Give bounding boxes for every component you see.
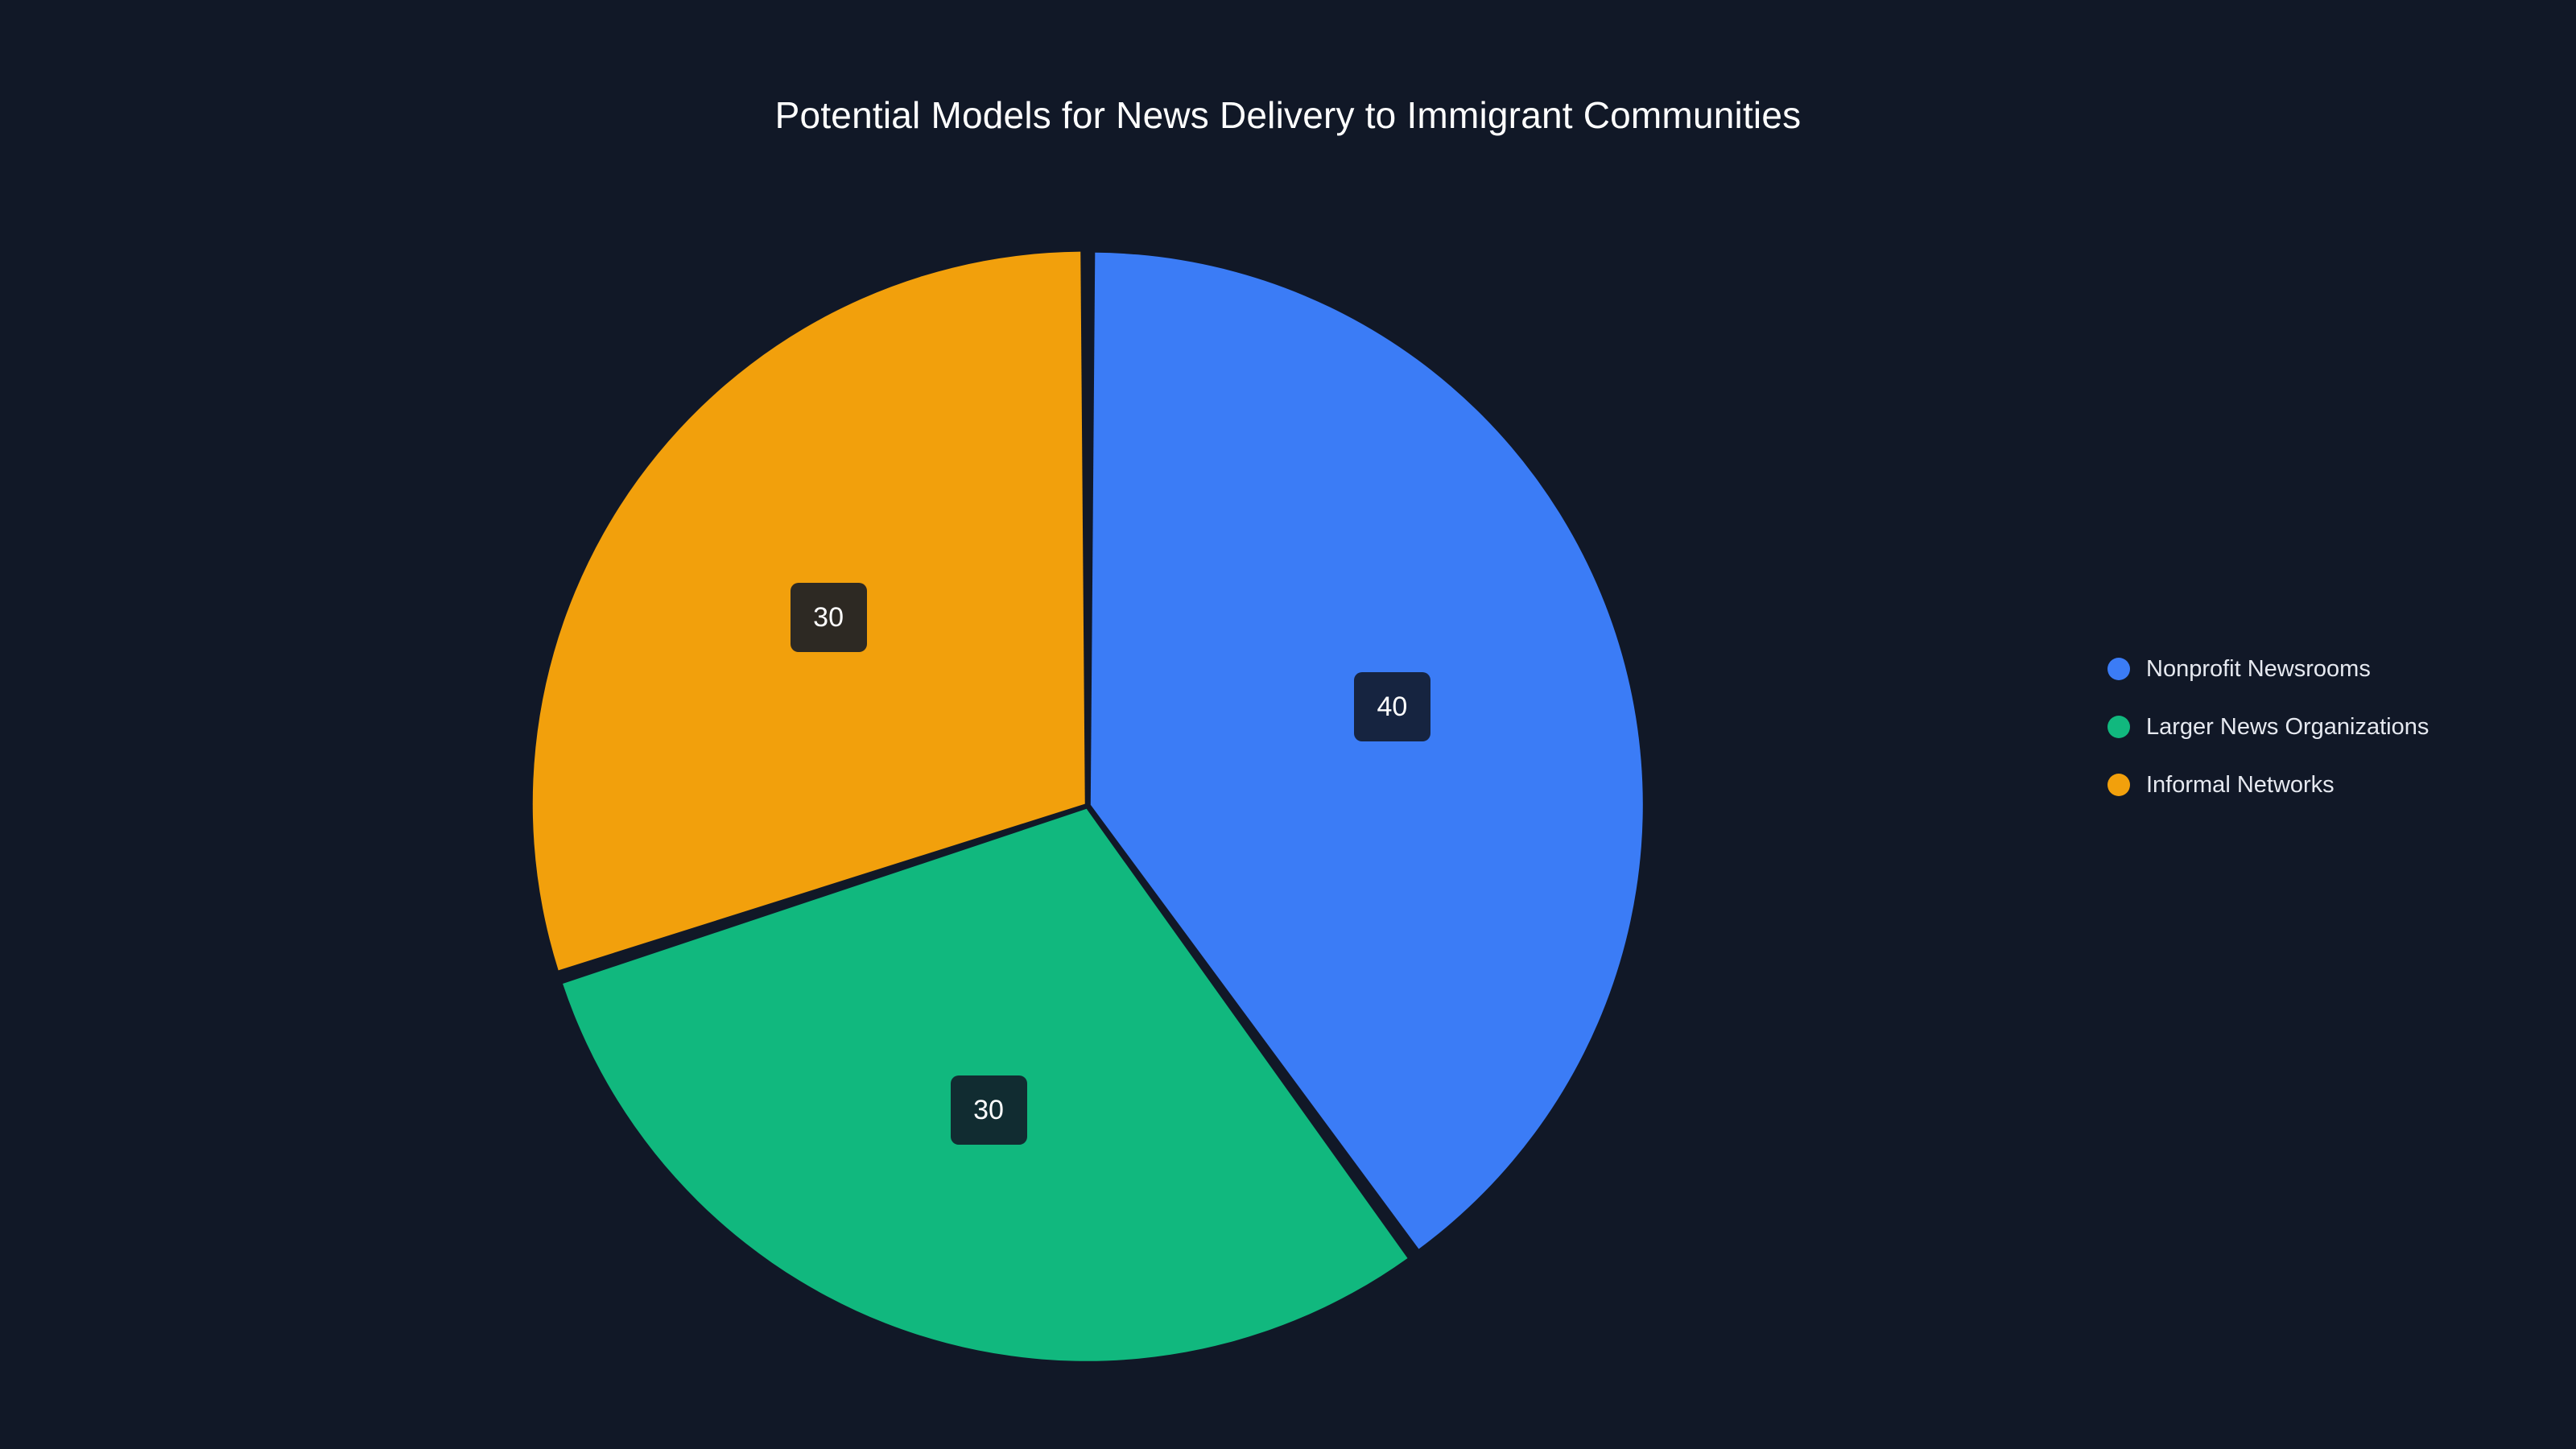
- legend-item-nonprofit-newsrooms[interactable]: Nonprofit Newsrooms: [2107, 640, 2558, 698]
- legend-swatch-icon: [2107, 658, 2130, 680]
- slice-label-larger-news-organizations: 30: [951, 1075, 1027, 1145]
- legend-item-informal-networks[interactable]: Informal Networks: [2107, 756, 2558, 814]
- legend-item-label: Informal Networks: [2146, 774, 2334, 797]
- pie-chart-figure: Potential Models for News Delivery to Im…: [0, 0, 2576, 1449]
- legend-swatch-icon: [2107, 774, 2130, 796]
- legend-item-label: Nonprofit Newsrooms: [2146, 658, 2371, 681]
- pie-slices-group: [533, 252, 1643, 1361]
- legend-swatch-icon: [2107, 716, 2130, 738]
- plot-area: 40 30 30: [0, 0, 2061, 1449]
- pie-svg: [0, 0, 2061, 1449]
- slice-label-informal-networks: 30: [791, 583, 867, 652]
- legend-item-label: Larger News Organizations: [2146, 716, 2429, 739]
- chart-legend: Nonprofit Newsrooms Larger News Organiza…: [2107, 640, 2558, 814]
- legend-item-larger-news-organizations[interactable]: Larger News Organizations: [2107, 698, 2558, 756]
- slice-label-nonprofit-newsrooms: 40: [1354, 672, 1430, 741]
